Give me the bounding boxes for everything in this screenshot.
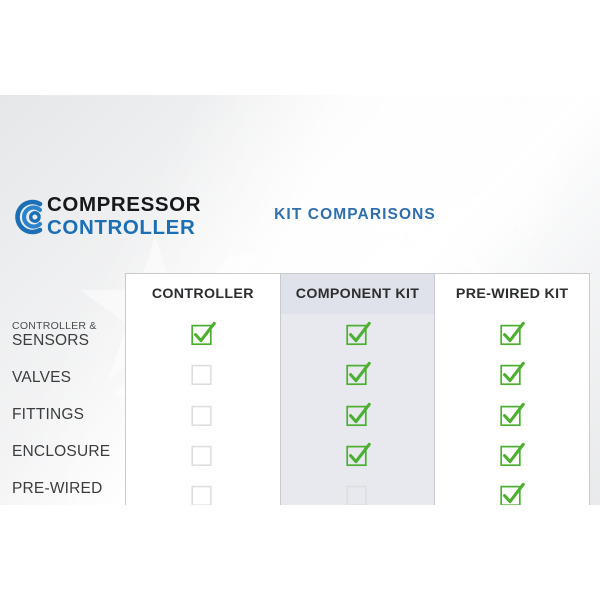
cell-component-kit-fittings [281, 394, 435, 434]
row-label-enclosure: ENCLOSURE [12, 444, 124, 460]
checked-checkbox-icon [499, 402, 525, 428]
unchecked-checkbox-icon [345, 482, 371, 505]
cell-component-kit-controller-sensors [281, 314, 435, 354]
column-header-component-kit: COMPONENT KIT [281, 274, 435, 314]
cell-controller-fittings [126, 394, 280, 434]
unchecked-checkbox-icon [190, 402, 216, 428]
cell-controller-valves [126, 354, 280, 394]
cell-pre-wired-kit-controller-sensors [435, 314, 589, 354]
page-title: KIT COMPARISONS [0, 206, 600, 224]
row-label-valves: VALVES [12, 370, 124, 386]
comparison-table: CONTROLLER ADVANCED COMPONENT KIT INTERM… [125, 273, 590, 505]
table-column-pre-wired-kit: PRE-WIRED KIT BASIC [434, 274, 589, 505]
column-header-controller: CONTROLLER [126, 274, 280, 314]
checked-checkbox-icon [190, 321, 216, 347]
cell-component-kit-valves [281, 354, 435, 394]
cell-component-kit-pre-wired [281, 475, 435, 505]
kit-comparison-graphic: ® COMPRESSOR CONTROLLER KIT COMPARISONS [0, 0, 600, 600]
checked-checkbox-icon [345, 361, 371, 387]
cell-pre-wired-kit-pre-wired [435, 475, 589, 505]
cell-component-kit-enclosure [281, 435, 435, 475]
unchecked-checkbox-icon [190, 361, 216, 387]
table-column-controller: CONTROLLER ADVANCED [126, 274, 280, 505]
panel-background: ® COMPRESSOR CONTROLLER KIT COMPARISONS [0, 95, 600, 505]
cell-controller-controller-sensors [126, 314, 280, 354]
checked-checkbox-icon [345, 442, 371, 468]
cell-pre-wired-kit-valves [435, 354, 589, 394]
unchecked-checkbox-icon [190, 482, 216, 505]
cell-controller-enclosure [126, 435, 280, 475]
checked-checkbox-icon [499, 321, 525, 347]
checked-checkbox-icon [499, 442, 525, 468]
row-label-controller-sensors: CONTROLLER & SENSORS [12, 321, 124, 349]
row-label-fittings: FITTINGS [12, 407, 124, 423]
checked-checkbox-icon [345, 402, 371, 428]
row-label-small-controller: CONTROLLER & [12, 321, 124, 332]
unchecked-checkbox-icon [190, 442, 216, 468]
column-header-pre-wired-kit: PRE-WIRED KIT [435, 274, 589, 314]
cell-pre-wired-kit-fittings [435, 394, 589, 434]
table-column-component-kit: COMPONENT KIT INTERMEDIATE [280, 274, 435, 505]
cell-pre-wired-kit-enclosure [435, 435, 589, 475]
checked-checkbox-icon [499, 482, 525, 505]
row-label-text-sensors: SENSORS [12, 332, 89, 349]
row-label-pre-wired: PRE-WIRED [12, 481, 124, 497]
cell-controller-pre-wired [126, 475, 280, 505]
checked-checkbox-icon [345, 321, 371, 347]
checked-checkbox-icon [499, 361, 525, 387]
row-label-column: CONTROLLER & SENSORS VALVES FITTINGS ENC… [12, 313, 124, 505]
